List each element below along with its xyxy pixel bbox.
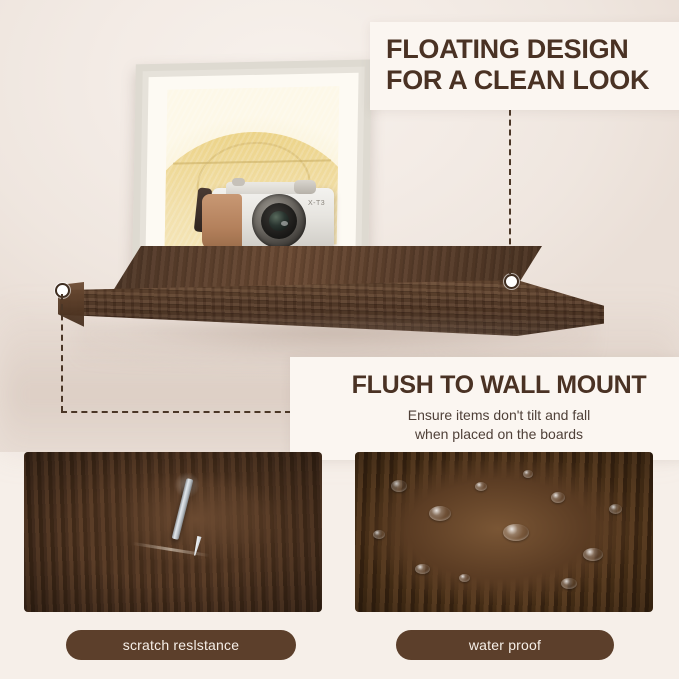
camera-lens [252,194,306,248]
lens-glass [269,211,289,231]
floating-shelf [46,246,606,356]
leader-line-flush-vertical [61,294,63,412]
callout-floating-design-line-1: FLOATING DESIGN [386,34,679,65]
camera-shutter-button [232,178,245,186]
label-scratch-resistance: scratch reslstance [66,630,296,660]
callout-flush-mount-subtitle-2: when placed on the boards [308,425,679,444]
camera-dial [294,180,316,194]
callout-floating-design: FLOATING DESIGN FOR A CLEAN LOOK [370,22,679,110]
feature-tile-water-proof [355,452,653,612]
label-water-proof: water proof [396,630,614,660]
callout-flush-mount-subtitle-1: Ensure items don't tilt and fall [308,406,679,425]
camera-model-text: X-T3 [308,200,325,207]
callout-floating-design-line-2: FOR A CLEAN LOOK [386,65,679,96]
camera-leather-grip [202,194,242,250]
lens-barrel [261,203,297,239]
leader-line-flush-horizontal [61,411,291,413]
callout-dot-floating-design [504,274,519,289]
callout-flush-mount-title: FLUSH TO WALL MOUNT [308,371,679,400]
lens-highlight [281,221,288,226]
product-infographic: X-T3 FLOATING DESIGN FOR A CLEAN LOOK FL… [0,0,679,679]
feature-tile-scratch-resistance [24,452,322,612]
callout-flush-mount: FLUSH TO WALL MOUNT Ensure items don't t… [290,357,679,460]
tile-vignette [24,452,322,612]
mirrorless-camera: X-T3 [196,180,344,256]
tile-vignette [355,452,653,612]
